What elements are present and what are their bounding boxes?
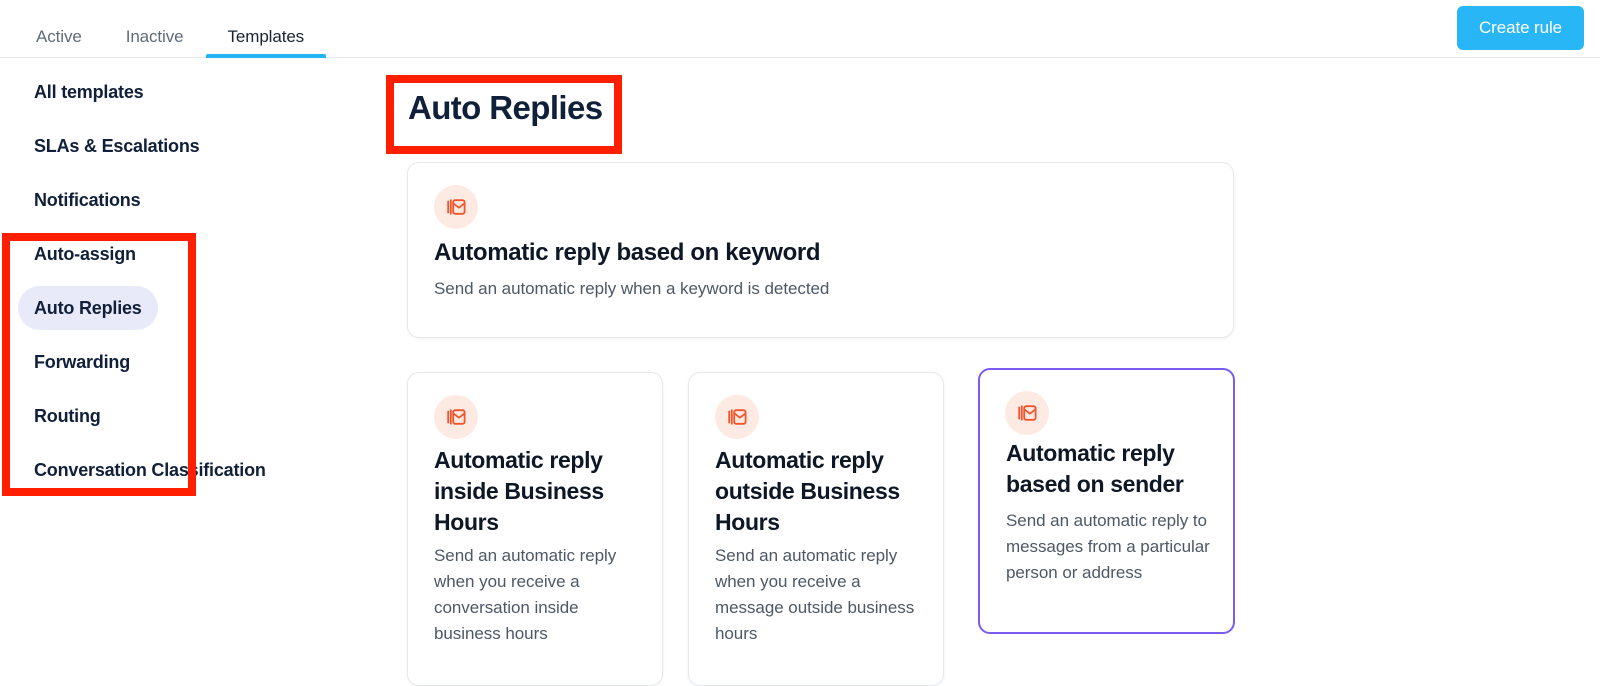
- tab-inactive[interactable]: Inactive: [104, 0, 206, 58]
- sidebar-item-label: Auto-assign: [34, 244, 136, 265]
- tab-bar: Active Inactive Templates: [14, 0, 326, 58]
- template-card-description: Send an automatic reply to messages from…: [1006, 508, 1211, 586]
- sidebar-item-routing[interactable]: Routing: [18, 394, 117, 438]
- sidebar-item-slas-escalations[interactable]: SLAs & Escalations: [18, 124, 215, 168]
- template-card-title: Automatic reply based on sender: [1006, 438, 1211, 500]
- template-card-based-on-sender[interactable]: Automatic reply based on sender Send an …: [978, 368, 1235, 634]
- sidebar-item-label: All templates: [34, 82, 143, 103]
- template-card-title: Automatic reply outside Business Hours: [715, 445, 915, 538]
- template-card-description: Send an automatic reply when you receive…: [715, 543, 923, 647]
- main-content: Auto Replies Automatic reply based on ke…: [380, 58, 1600, 686]
- template-card-description: Send an automatic reply when a keyword i…: [434, 276, 829, 302]
- sidebar-item-auto-assign[interactable]: Auto-assign: [18, 232, 152, 276]
- template-card-inside-business-hours[interactable]: Automatic reply inside Business Hours Se…: [407, 372, 663, 686]
- sidebar-item-forwarding[interactable]: Forwarding: [18, 340, 146, 384]
- templates-sidebar: All templates SLAs & Escalations Notific…: [0, 58, 380, 686]
- page-title: Auto Replies: [408, 89, 603, 127]
- template-card-description: Send an automatic reply when you receive…: [434, 543, 642, 647]
- sidebar-item-label: SLAs & Escalations: [34, 136, 199, 157]
- sidebar-item-label: Notifications: [34, 190, 140, 211]
- sidebar-item-label: Auto Replies: [34, 298, 142, 319]
- stacked-envelope-icon: [715, 395, 759, 439]
- top-navigation-bar: Active Inactive Templates Create rule: [0, 0, 1600, 58]
- sidebar-item-notifications[interactable]: Notifications: [18, 178, 156, 222]
- sidebar-item-label: Routing: [34, 406, 101, 427]
- template-card-outside-business-hours[interactable]: Automatic reply outside Business Hours S…: [688, 372, 944, 686]
- stacked-envelope-icon: [1005, 391, 1049, 435]
- sidebar-item-auto-replies[interactable]: Auto Replies: [18, 286, 158, 330]
- stacked-envelope-icon: [434, 395, 478, 439]
- stacked-envelope-icon: [434, 185, 478, 229]
- template-card-title: Automatic reply inside Business Hours: [434, 445, 634, 538]
- create-rule-button[interactable]: Create rule: [1457, 6, 1584, 50]
- sidebar-item-conversation-classification[interactable]: Conversation Classification: [18, 448, 282, 492]
- tab-templates[interactable]: Templates: [206, 0, 327, 58]
- template-card-keyword[interactable]: Automatic reply based on keyword Send an…: [407, 162, 1234, 338]
- tab-active[interactable]: Active: [14, 0, 104, 58]
- template-card-title: Automatic reply based on keyword: [434, 237, 820, 268]
- sidebar-item-label: Forwarding: [34, 352, 130, 373]
- sidebar-item-all-templates[interactable]: All templates: [18, 70, 159, 114]
- sidebar-item-label: Conversation Classification: [34, 460, 266, 481]
